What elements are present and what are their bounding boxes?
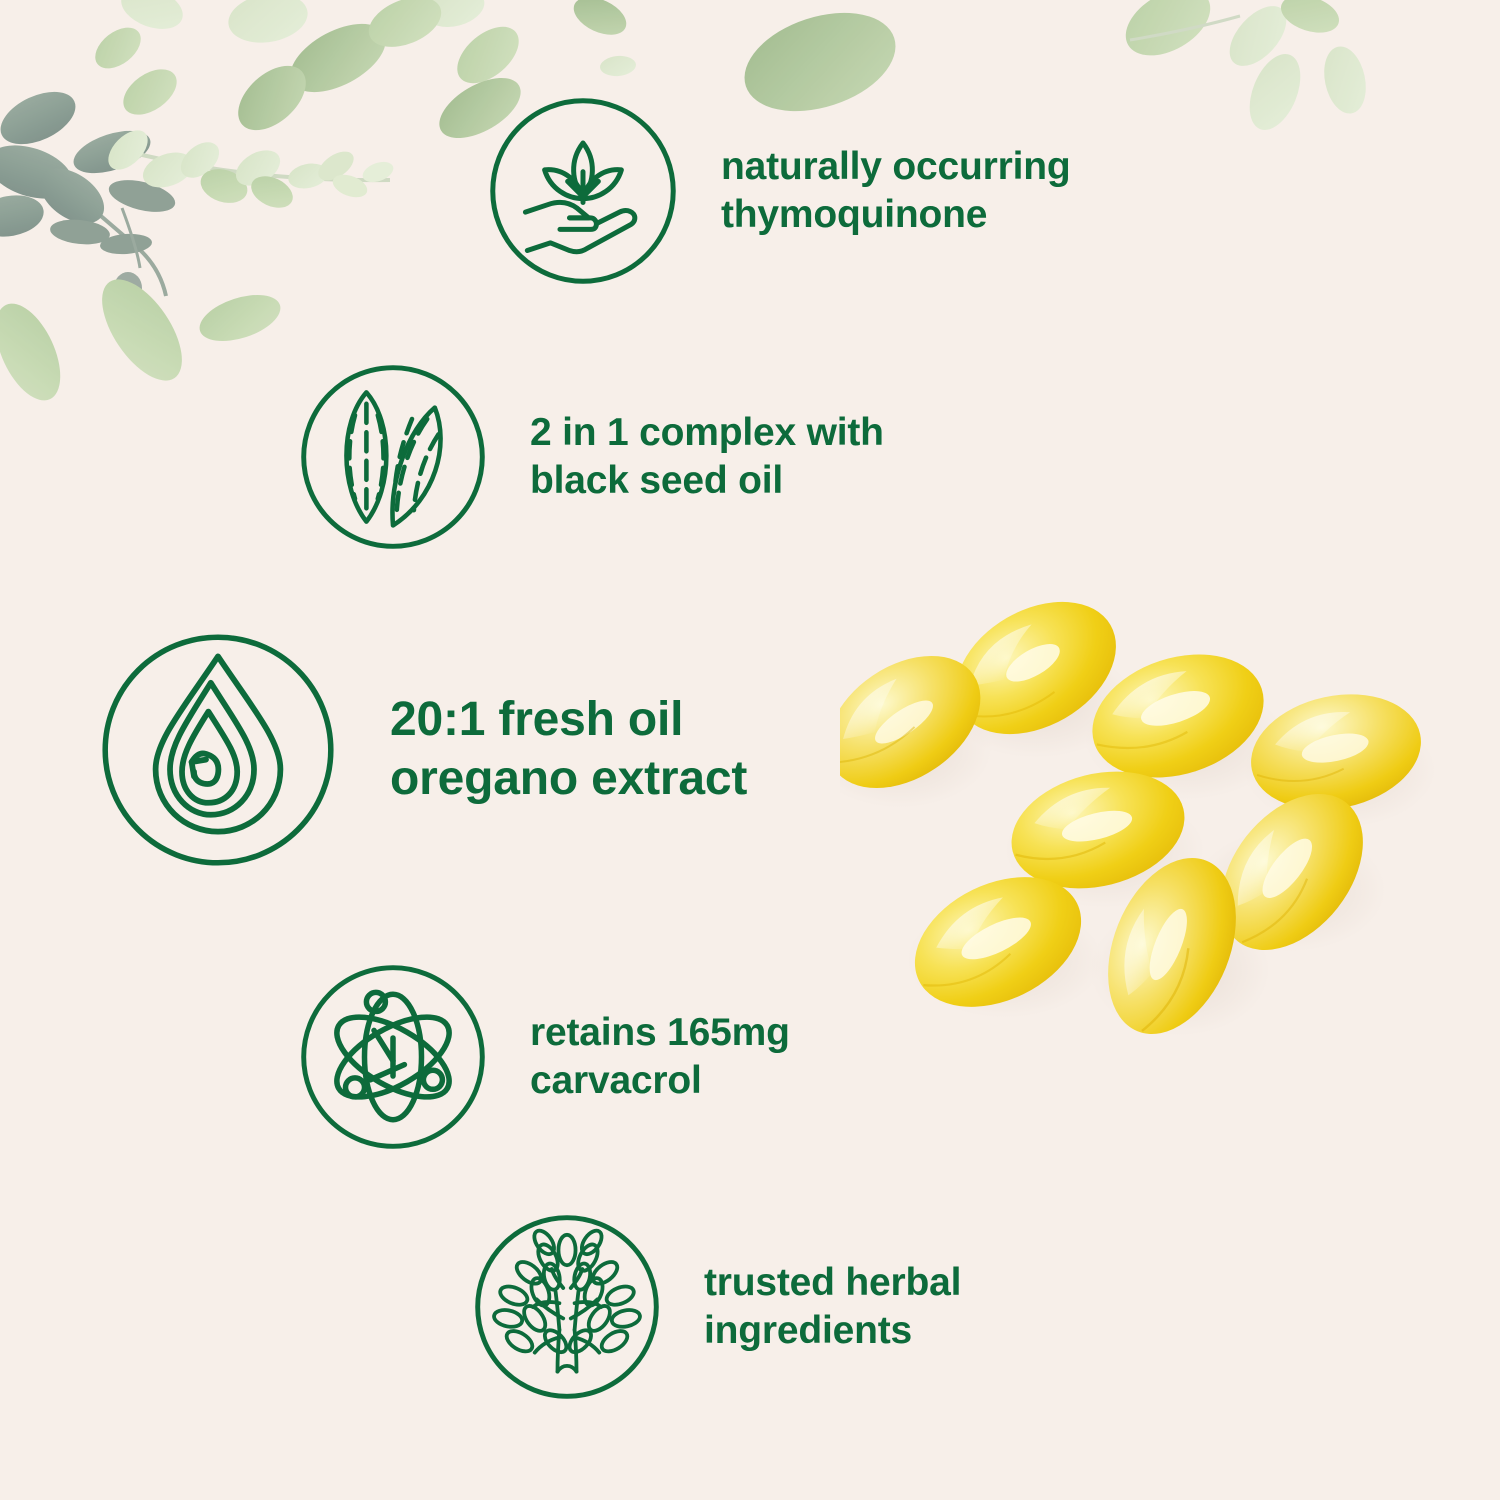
feature-label: 2 in 1 complex with black seed oil xyxy=(530,409,884,504)
capsule xyxy=(1192,767,1392,977)
capsule xyxy=(1076,634,1279,799)
hand-holding-plant-icon xyxy=(487,95,679,287)
feature-label: naturally occurring thymoquinone xyxy=(721,143,1070,238)
feature-item-carvacrol: retains 165mg carvacrol xyxy=(298,962,790,1152)
feature-item-thymoquinone: naturally occurring thymoquinone xyxy=(487,95,1070,287)
capsule xyxy=(1084,839,1260,1053)
tree-icon xyxy=(472,1212,662,1402)
capsule xyxy=(999,754,1197,905)
feature-label: 20:1 fresh oil oregano extract xyxy=(390,691,747,808)
feature-item-herbal-ingredients: trusted herbal ingredients xyxy=(472,1212,961,1402)
capsule xyxy=(840,629,1005,816)
capsule xyxy=(1240,679,1432,824)
feature-label: retains 165mg carvacrol xyxy=(530,1009,790,1104)
feature-label: trusted herbal ingredients xyxy=(704,1259,961,1354)
feature-item-black-seed-oil: 2 in 1 complex with black seed oil xyxy=(298,362,884,552)
feature-item-oregano-extract: 20:1 fresh oil oregano extract xyxy=(98,630,747,870)
capsule xyxy=(933,575,1140,761)
capsule xyxy=(893,851,1102,1032)
black-seeds-icon xyxy=(298,362,488,552)
oil-droplet-icon xyxy=(98,630,338,870)
infographic-canvas: naturally occurring thymoquinone 2 in 1 … xyxy=(0,0,1500,1500)
softgel-capsules-photo xyxy=(840,490,1480,1070)
atom-molecule-icon xyxy=(298,962,488,1152)
